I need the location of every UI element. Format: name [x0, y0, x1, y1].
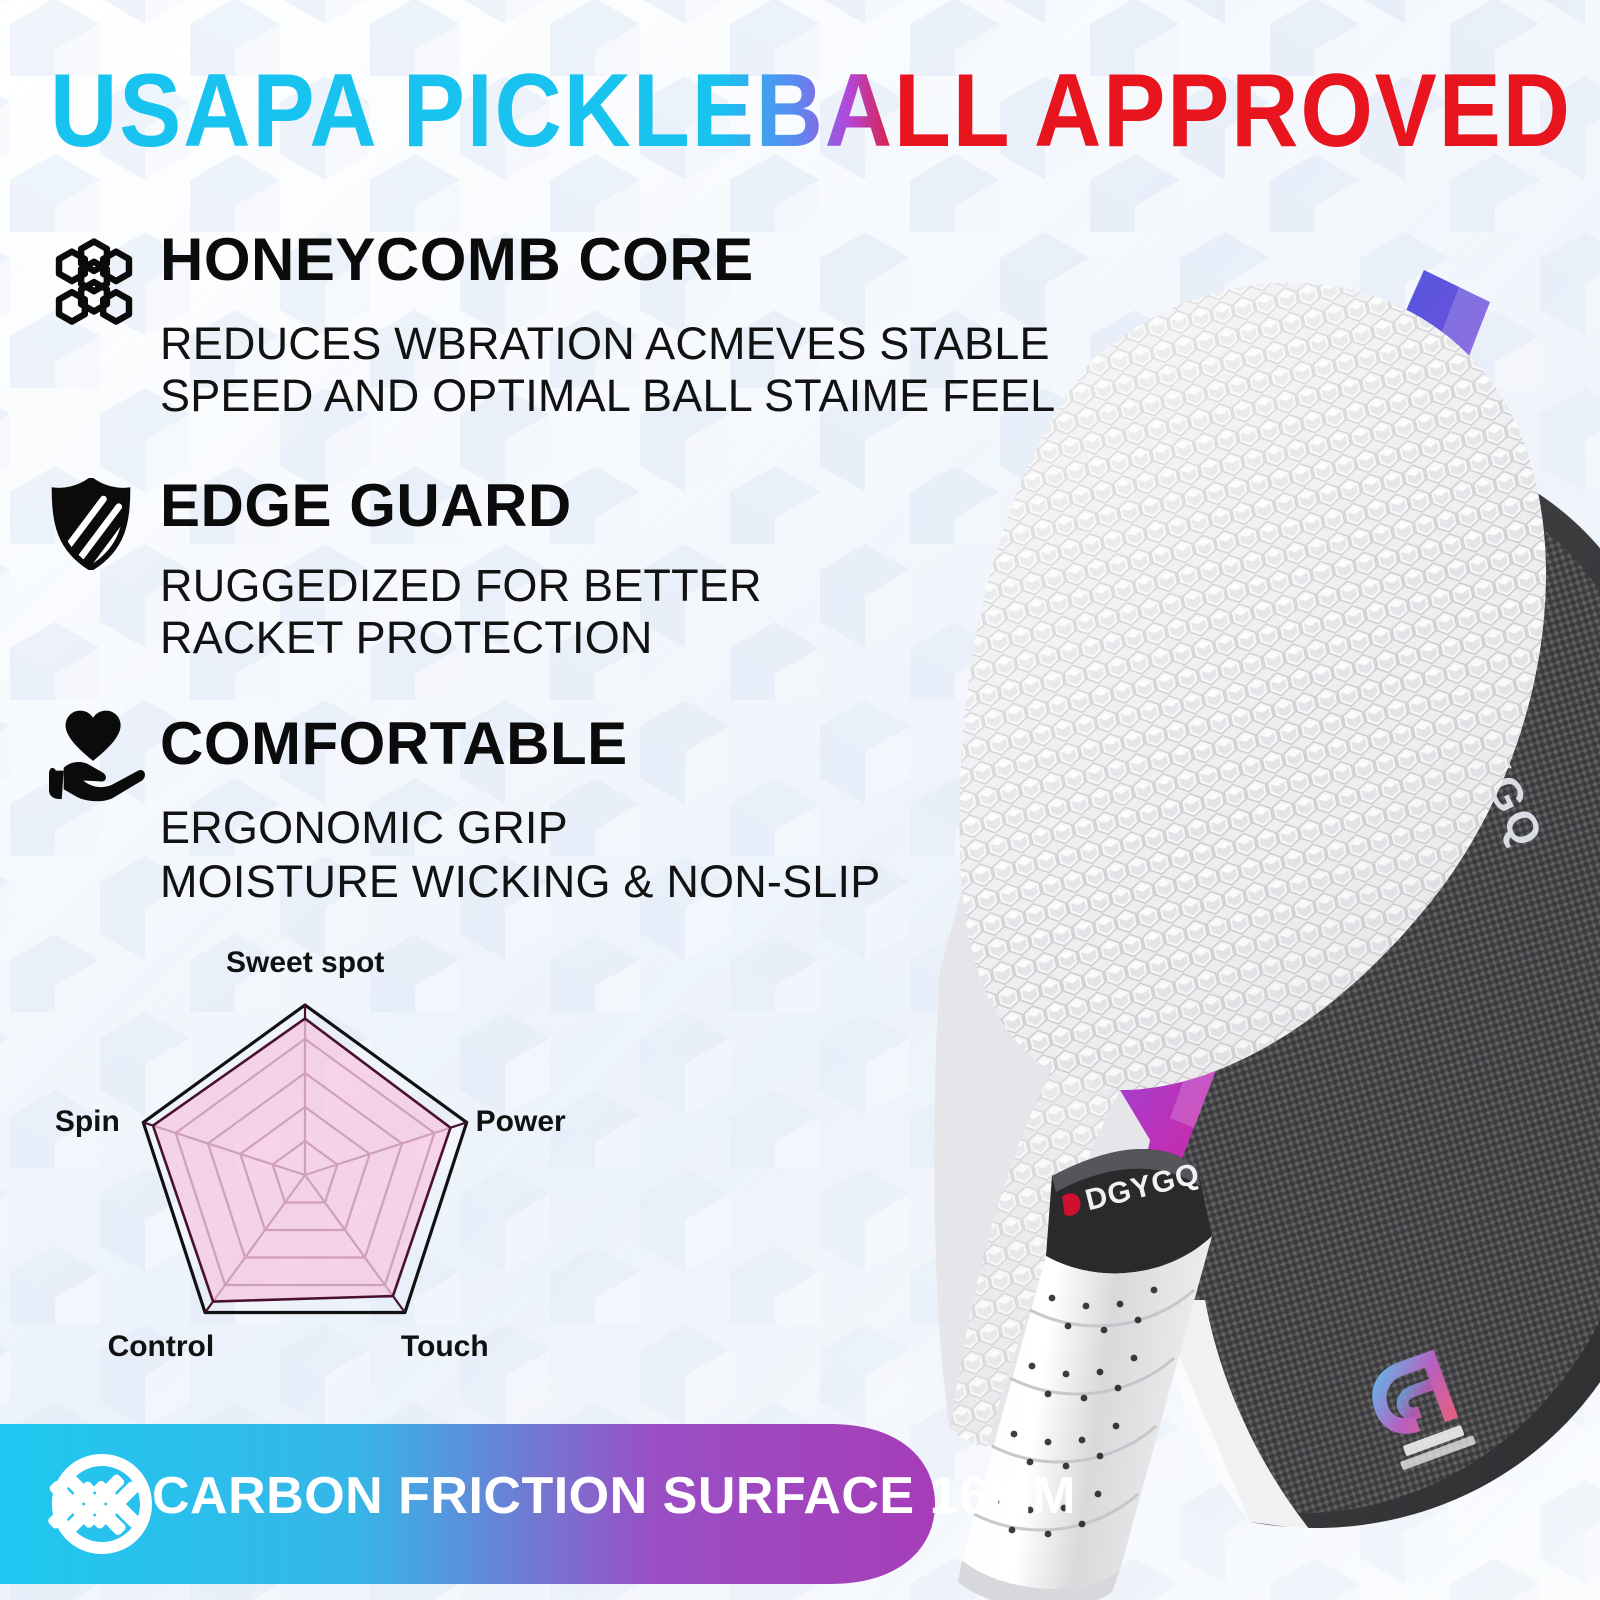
hand-heart-icon	[48, 706, 146, 802]
carbon-surface-banner: CARBON FRICTION SURFACE 16MM	[0, 1424, 1000, 1584]
radar-data-polygon	[153, 1019, 450, 1302]
feature-heading: EDGE GUARD	[160, 476, 572, 536]
honeycomb-icon	[48, 236, 140, 328]
shield-icon	[48, 478, 134, 570]
radar-label-control: Control	[108, 1330, 215, 1364]
performance-radar-chart: Sweet spot Power Touch Control Spin	[10, 925, 620, 1395]
feature-heading: HONEYCOMB CORE	[160, 230, 754, 290]
feature-heading: COMFORTABLE	[160, 714, 628, 774]
product-infographic: USAPA PICKLEBALL APPROVED HONEYCOMB CORE…	[0, 0, 1600, 1600]
product-paddle-image: DGYGQ DGYGQ	[700, 130, 1600, 1600]
banner-text: CARBON FRICTION SURFACE 16MM	[152, 1468, 1076, 1524]
feature-line-2: RACKET PROTECTION	[160, 612, 653, 664]
radar-label-spin: Spin	[55, 1105, 120, 1139]
radar-label-sweet-spot: Sweet spot	[226, 946, 384, 980]
feature-line-1: ERGONOMIC GRIP	[160, 802, 568, 854]
radar-label-touch: Touch	[401, 1330, 489, 1364]
radar-label-power: Power	[476, 1105, 566, 1139]
feature-line-1: RUGGEDIZED FOR BETTER	[160, 560, 762, 612]
